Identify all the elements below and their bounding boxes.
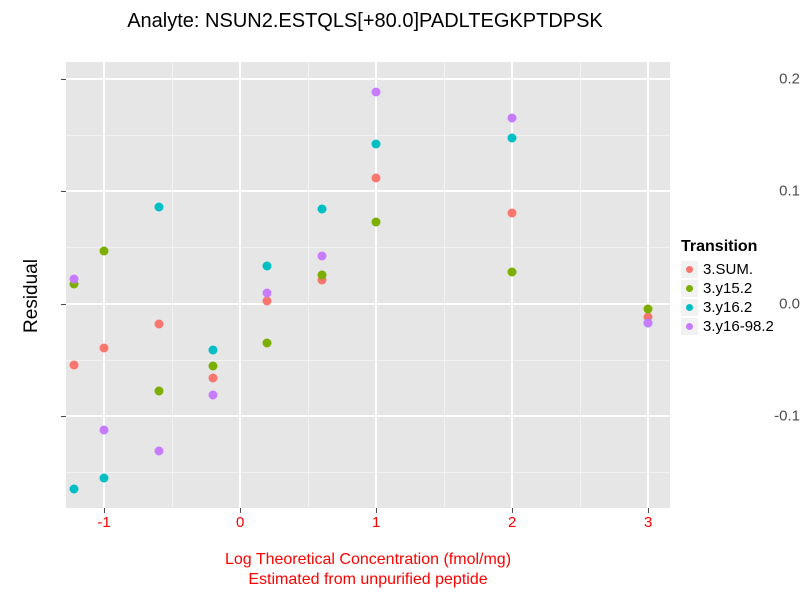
data-point: [100, 344, 109, 353]
grid-minor-vertical: [580, 62, 581, 508]
data-point: [100, 246, 109, 255]
legend-dot-icon: [686, 323, 693, 330]
grid-major-horizontal: [66, 190, 670, 192]
chart-root: Analyte: NSUN2.ESTQLS[+80.0]PADLTEGKPTDP…: [0, 0, 800, 600]
data-point: [508, 114, 517, 123]
grid-major-horizontal: [66, 303, 670, 305]
legend-swatch-icon: [681, 299, 698, 316]
x-tick-label: 3: [628, 514, 668, 531]
legend-dot-icon: [686, 304, 693, 311]
x-tick-mark: [512, 508, 513, 513]
y-tick-label: 0.1: [766, 183, 800, 200]
data-point: [208, 373, 217, 382]
grid-minor-vertical: [444, 62, 445, 508]
grid-major-vertical: [647, 62, 649, 508]
legend-title: Transition: [681, 238, 774, 256]
x-tick-label: 2: [492, 514, 532, 531]
x-tick-label: -1: [84, 514, 124, 531]
data-point: [263, 262, 272, 271]
data-point: [372, 88, 381, 97]
grid-major-vertical: [375, 62, 377, 508]
x-axis-title-line2: Estimated from unpurified peptide: [66, 570, 670, 590]
data-point: [372, 217, 381, 226]
y-tick-label: -0.1: [766, 407, 800, 424]
data-point: [317, 252, 326, 261]
legend-item-label: 3.y15.2: [703, 280, 752, 297]
legend-item[interactable]: 3.y16.2: [681, 298, 774, 317]
data-point: [508, 208, 517, 217]
y-axis-title: Residual: [21, 186, 43, 406]
legend-swatch-icon: [681, 261, 698, 278]
legend-item-label: 3.y16-98.2: [703, 318, 774, 335]
plot-panel: [66, 62, 670, 508]
x-tick-mark: [240, 508, 241, 513]
data-point: [154, 202, 163, 211]
data-point: [263, 338, 272, 347]
data-point: [154, 387, 163, 396]
data-point: [70, 274, 79, 283]
x-tick-mark: [648, 508, 649, 513]
data-point: [70, 484, 79, 493]
data-point: [154, 446, 163, 455]
x-axis-title-line1: Log Theoretical Concentration (fmol/mg): [66, 550, 670, 570]
x-tick-mark: [104, 508, 105, 513]
data-point: [644, 318, 653, 327]
grid-minor-vertical: [172, 62, 173, 508]
legend-item-label: 3.SUM.: [703, 261, 753, 278]
grid-major-horizontal: [66, 78, 670, 80]
grid-major-vertical: [103, 62, 105, 508]
legend-dot-icon: [686, 285, 693, 292]
x-tick-label: 0: [220, 514, 260, 531]
data-point: [263, 297, 272, 306]
data-point: [100, 473, 109, 482]
data-point: [208, 362, 217, 371]
data-point: [208, 345, 217, 354]
grid-major-horizontal: [66, 415, 670, 417]
x-tick-mark: [376, 508, 377, 513]
data-point: [154, 319, 163, 328]
y-tick-label: 0.2: [766, 70, 800, 87]
legend-swatch-icon: [681, 280, 698, 297]
legend-item[interactable]: 3.SUM.: [681, 260, 774, 279]
data-point: [372, 140, 381, 149]
x-axis-title: Log Theoretical Concentration (fmol/mg) …: [66, 550, 670, 590]
y-tick-mark: [61, 416, 66, 417]
grid-major-vertical: [239, 62, 241, 508]
data-point: [317, 271, 326, 280]
legend: Transition 3.SUM.3.y15.23.y16.23.y16-98.…: [681, 238, 774, 336]
x-tick-label: 1: [356, 514, 396, 531]
legend-items: 3.SUM.3.y15.23.y16.23.y16-98.2: [681, 260, 774, 336]
data-point: [508, 134, 517, 143]
data-point: [508, 268, 517, 277]
chart-title: Analyte: NSUN2.ESTQLS[+80.0]PADLTEGKPTDP…: [0, 10, 730, 33]
grid-major-vertical: [511, 62, 513, 508]
data-point: [208, 390, 217, 399]
data-point: [70, 361, 79, 370]
grid-minor-vertical: [308, 62, 309, 508]
data-point: [317, 205, 326, 214]
y-tick-mark: [61, 191, 66, 192]
data-point: [644, 305, 653, 314]
legend-dot-icon: [686, 266, 693, 273]
legend-item[interactable]: 3.y15.2: [681, 279, 774, 298]
legend-item[interactable]: 3.y16-98.2: [681, 317, 774, 336]
data-point: [263, 289, 272, 298]
y-tick-mark: [61, 304, 66, 305]
y-tick-mark: [61, 79, 66, 80]
legend-swatch-icon: [681, 318, 698, 335]
data-point: [372, 173, 381, 182]
data-point: [100, 426, 109, 435]
legend-item-label: 3.y16.2: [703, 299, 752, 316]
